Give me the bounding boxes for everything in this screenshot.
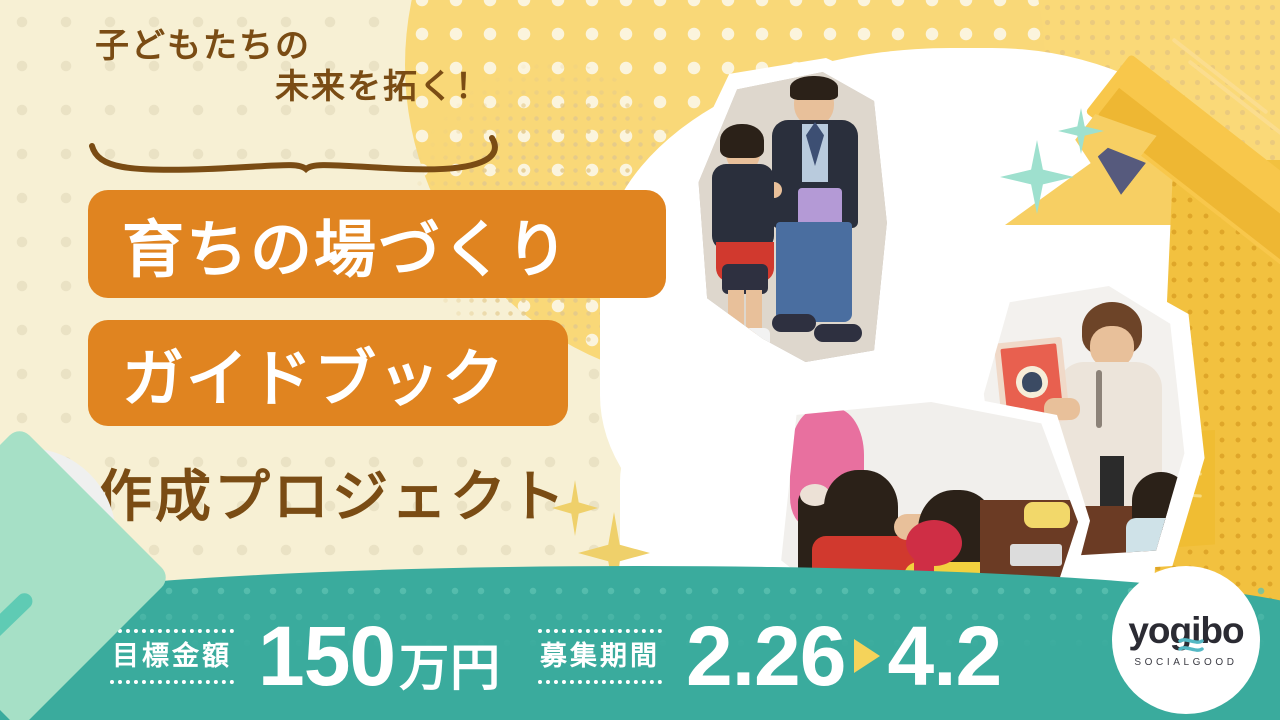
campaign-end-date: 4.2 (888, 614, 1002, 698)
brand-wordmark: yogibo (1128, 612, 1243, 649)
arrow-right-icon (854, 639, 880, 673)
swash-underline-icon (88, 128, 508, 174)
stat-campaign-period: 募集期間 2.26 4.2 (538, 614, 1001, 698)
title-chip-secondary-label: ガイドブック (122, 328, 506, 418)
stat-goal-amount: 目標金額 150 万円 (110, 614, 501, 698)
kicker-text: 子どもたちの 未来を拓く！ (95, 26, 525, 109)
goal-amount-number: 150 (258, 614, 395, 698)
brand-badge[interactable]: yogibo SOCIALGOOD (1112, 566, 1260, 714)
campaign-period-label: 募集期間 (538, 629, 662, 684)
title-line-3: 作成プロジェクト (96, 452, 568, 533)
campaign-period-value: 2.26 4.2 (686, 614, 1001, 698)
goal-amount-value: 150 万円 (258, 614, 501, 698)
title-chip-secondary: ガイドブック (88, 320, 568, 426)
kicker-line-1: 子どもたちの (95, 27, 311, 65)
brand-squiggle-icon (1178, 636, 1204, 654)
brand-tagline: SOCIALGOOD (1134, 657, 1237, 668)
banner-canvas: 子どもたちの 未来を拓く！ 育ちの場づくり ガイドブック 作成プロジェクト 目標… (0, 0, 1280, 720)
title-chip-primary: 育ちの場づくり (88, 190, 666, 298)
campaign-start-date: 2.26 (686, 614, 846, 698)
goal-amount-label: 目標金額 (110, 629, 234, 684)
kicker-line-2: 未来を拓く！ (95, 67, 525, 108)
title-chip-primary-label: 育ちの場づくり (122, 199, 570, 289)
goal-amount-unit: 万円 (399, 643, 501, 693)
